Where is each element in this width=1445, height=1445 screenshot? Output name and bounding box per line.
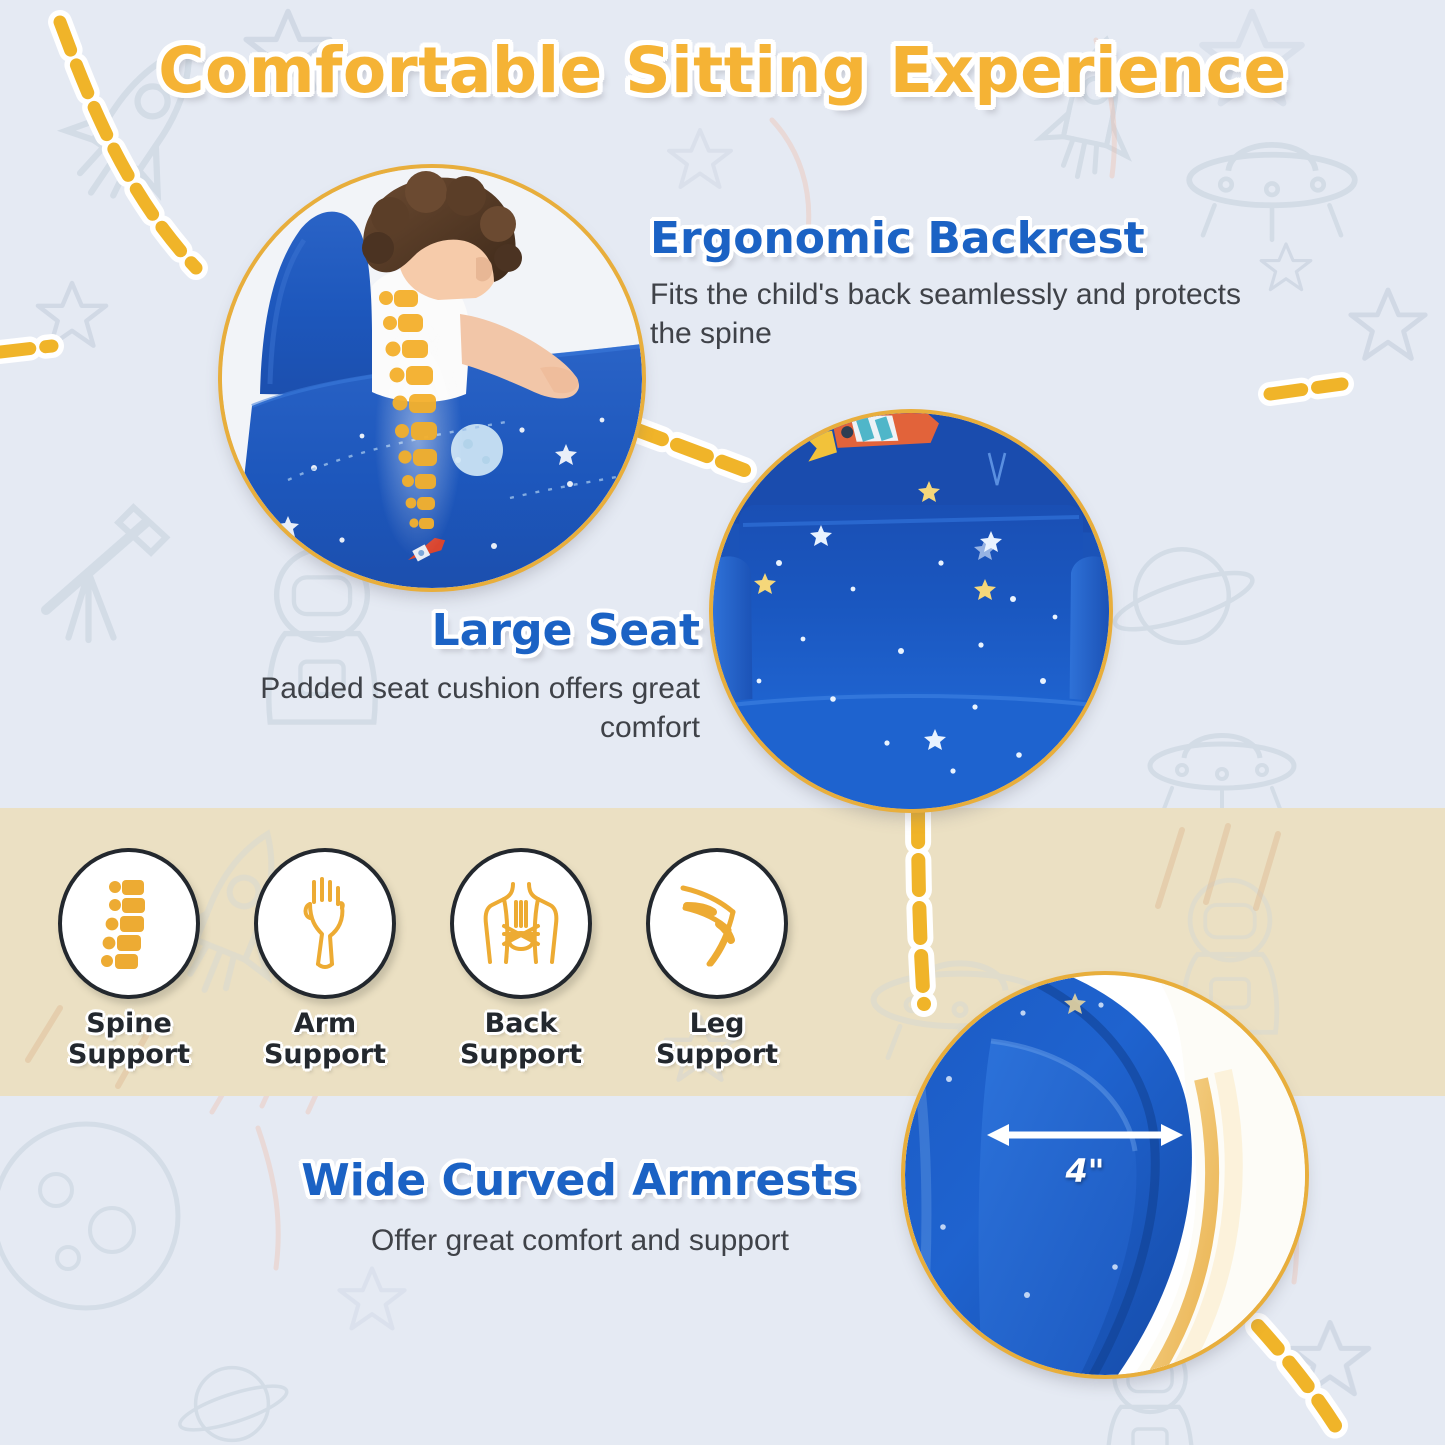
support-label-back: Back Support: [436, 1008, 606, 1071]
back-icon: [478, 878, 564, 970]
support-label-arm: Arm Support: [240, 1008, 410, 1071]
feature-heading-backrest: Ergonomic Backrest: [650, 216, 1250, 263]
support-item-arm: Arm Support: [240, 848, 410, 1071]
support-disc-leg: [646, 848, 788, 999]
photo-large-seat: [713, 413, 1109, 809]
photo-ergonomic-backrest: [222, 168, 642, 588]
armrest-dimension-label: 4": [985, 1152, 1185, 1190]
support-label-spine-line1: Spine: [86, 1008, 172, 1039]
page-title: Comfortable Sitting Experience: [158, 34, 1286, 107]
support-label-back-line2: Support: [460, 1039, 582, 1070]
support-label-spine-line2: Support: [68, 1039, 190, 1070]
feature-ergonomic-backrest: Ergonomic Backrest Fits the child's back…: [650, 216, 1250, 353]
spine-icon: [92, 876, 166, 972]
support-label-back-line1: Back: [485, 1008, 558, 1039]
arm-icon: [288, 876, 362, 972]
feature-heading-seat: Large Seat: [200, 608, 700, 655]
support-label-arm-line2: Support: [264, 1039, 386, 1070]
support-label-spine: Spine Support: [44, 1008, 214, 1071]
support-feature-row: Spine Support Arm S: [44, 848, 824, 1088]
support-item-spine: Spine Support: [44, 848, 214, 1071]
leg-icon: [675, 878, 759, 970]
support-label-arm-line1: Arm: [294, 1008, 356, 1039]
support-label-leg-line2: Support: [656, 1039, 778, 1070]
double-arrow-icon: [985, 1120, 1185, 1150]
feature-body-armrest: Offer great comfort and support: [240, 1221, 920, 1260]
support-label-leg-line1: Leg: [690, 1008, 745, 1039]
support-item-back: Back Support: [436, 848, 606, 1071]
infographic-stage: Comfortable Sitting Experience: [0, 0, 1445, 1445]
support-disc-spine: [58, 848, 200, 999]
support-label-leg: Leg Support: [632, 1008, 802, 1071]
feature-wide-curved-armrests: Wide Curved Armrests Offer great comfort…: [240, 1158, 920, 1260]
support-disc-arm: [254, 848, 396, 999]
support-item-leg: Leg Support: [632, 848, 802, 1071]
page-title-wrap: Comfortable Sitting Experience: [0, 34, 1445, 107]
armrest-dimension-annotation: 4": [985, 1120, 1185, 1190]
support-disc-back: [450, 848, 592, 999]
feature-large-seat: Large Seat Padded seat cushion offers gr…: [200, 608, 700, 747]
feature-body-backrest: Fits the child's back seamlessly and pro…: [650, 275, 1250, 353]
feature-body-seat: Padded seat cushion offers great comfort: [200, 669, 700, 747]
feature-heading-armrest: Wide Curved Armrests: [240, 1158, 920, 1205]
